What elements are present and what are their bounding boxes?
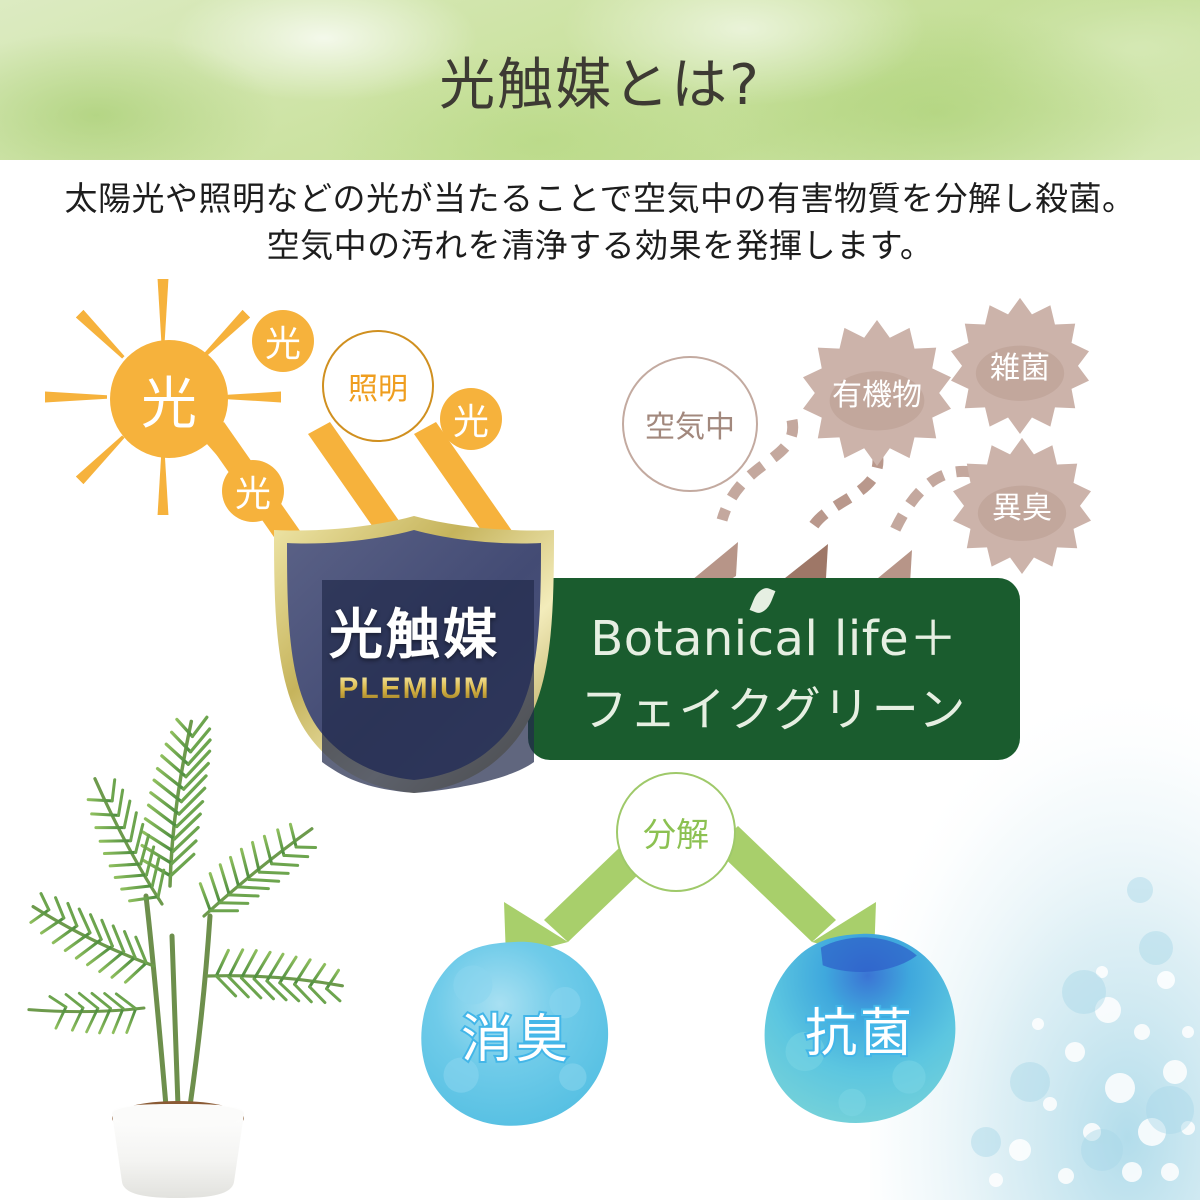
lead-paragraph: 太陽光や照明などの光が当たることで空気中の有害物質を分解し殺菌。 空気中の汚れを… — [0, 176, 1200, 270]
header-banner: 光触媒とは? — [0, 0, 1200, 160]
result-blob-deodorize: 消臭 — [418, 938, 614, 1130]
shield-sub-label: PLEMIUM — [262, 672, 567, 706]
result-label-deodorize: 消臭 — [461, 997, 571, 1072]
page-title: 光触媒とは? — [0, 0, 1200, 160]
sun-label: 光 — [110, 340, 228, 458]
decompose-ring: 分解 — [616, 772, 736, 892]
result-blob-antibacterial: 抗菌 — [762, 930, 958, 1126]
lead-line-2: 空気中の汚れを清浄する効果を発揮します。 — [0, 223, 1200, 270]
contaminant-badge-organic: 有機物 — [802, 318, 952, 466]
brand-banner-line-2: フェイクグリーン — [581, 671, 968, 740]
contaminant-badge-bacteria: 雑菌 — [950, 296, 1090, 434]
air-ring: 空気中 — [622, 356, 758, 492]
brand-banner-line-1: Botanical life＋ — [590, 599, 957, 669]
contaminant-label-bacteria: 雑菌 — [990, 343, 1050, 387]
lighting-ring: 照明 — [322, 330, 434, 442]
contaminant-badge-odor: 異臭 — [952, 436, 1092, 574]
lead-line-1: 太陽光や照明などの光が当たることで空気中の有害物質を分解し殺菌。 — [0, 176, 1200, 223]
result-label-antibacterial: 抗菌 — [805, 991, 915, 1066]
light-chip-1: 光 — [252, 310, 314, 372]
contaminant-label-organic: 有機物 — [832, 370, 922, 414]
brand-banner: Botanical life＋ フェイクグリーン — [528, 578, 1020, 760]
shield-main-label: 光触媒 — [262, 590, 567, 669]
infographic-page: 光触媒とは? 太陽光や照明などの光が当たることで空気中の有害物質を分解し殺菌。 … — [0, 0, 1200, 1200]
contaminant-label-odor: 異臭 — [992, 483, 1052, 527]
photocatalyst-shield-badge: 光触媒 PLEMIUM — [262, 512, 567, 797]
light-chip-2: 光 — [440, 388, 502, 450]
